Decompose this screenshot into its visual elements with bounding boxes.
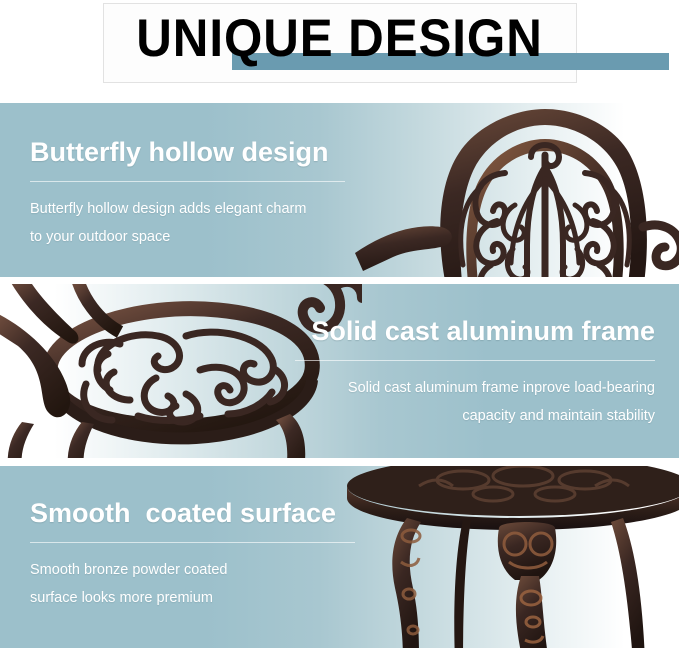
feature-panel-butterfly-hollow-design: Butterfly hollow design Butterfly hollow… (0, 103, 679, 277)
panel-copy: Butterfly hollow design Butterfly hollow… (30, 135, 360, 251)
panel-copy: Smooth coated surface Smooth bronze powd… (30, 496, 370, 612)
feature-panel-solid-cast-aluminum-frame: Solid cast aluminum frame Solid cast alu… (0, 284, 679, 458)
panel-heading: Butterfly hollow design (30, 135, 360, 169)
panel-heading: Solid cast aluminum frame (295, 314, 655, 348)
panel-divider (30, 181, 345, 182)
panel-divider (295, 360, 655, 361)
panel-heading: Smooth coated surface (30, 496, 370, 530)
header-banner: UNIQUE DESIGN (0, 0, 679, 100)
panel-body-text: Butterfly hollow design adds elegant cha… (30, 195, 360, 251)
page-title: UNIQUE DESIGN (24, 8, 655, 70)
panel-divider (30, 542, 355, 543)
panel-body-text: Solid cast aluminum frame inprove load-b… (295, 374, 655, 430)
panel-body-text: Smooth bronze powder coated surface look… (30, 556, 370, 612)
feature-panel-smooth-coated-surface: Smooth coated surface Smooth bronze powd… (0, 466, 679, 648)
panel-copy: Solid cast aluminum frame Solid cast alu… (295, 314, 655, 430)
